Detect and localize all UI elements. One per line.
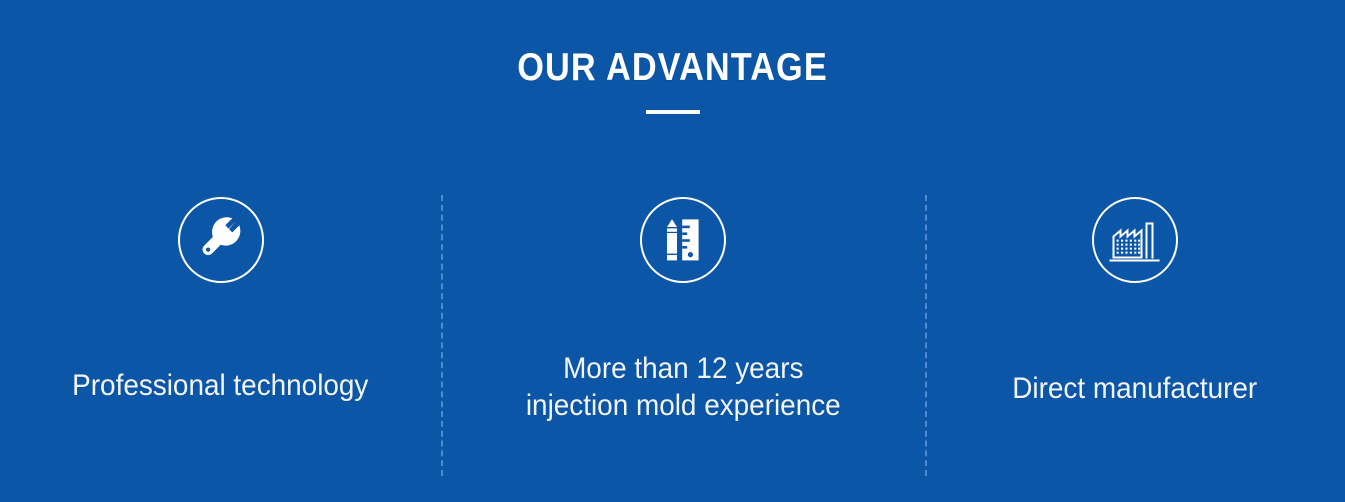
section-title: OUR ADVANTAGE	[81, 48, 1265, 88]
factory-icon-circle	[1092, 197, 1178, 283]
wrench-icon-circle	[178, 197, 264, 283]
advantage-item-direct-manufacturer: Direct manufacturer	[925, 178, 1345, 478]
factory-icon	[1109, 216, 1161, 264]
caption-line: injection mold experience	[526, 387, 841, 424]
wrench-icon	[196, 215, 246, 265]
advantage-caption: Professional technology	[72, 367, 368, 404]
our-advantage-banner: OUR ADVANTAGE Professio	[0, 0, 1345, 502]
caption-line: Direct manufacturer	[1013, 370, 1258, 407]
column-divider	[441, 195, 443, 476]
advantage-caption: More than 12 years injection mold experi…	[526, 350, 841, 424]
advantage-item-injection-mold-experience: More than 12 years injection mold experi…	[441, 178, 925, 478]
title-underline-rule	[646, 110, 700, 114]
pencil-ruler-icon	[659, 216, 707, 264]
advantage-item-professional-technology: Professional technology	[0, 178, 441, 478]
section-heading: OUR ADVANTAGE	[0, 48, 1345, 114]
pencil-ruler-icon-circle	[640, 197, 726, 283]
column-divider	[925, 195, 927, 476]
advantage-columns: Professional technology	[0, 178, 1345, 478]
caption-line: Professional technology	[72, 367, 368, 404]
caption-line: More than 12 years	[526, 350, 841, 387]
advantage-caption: Direct manufacturer	[1013, 370, 1258, 407]
